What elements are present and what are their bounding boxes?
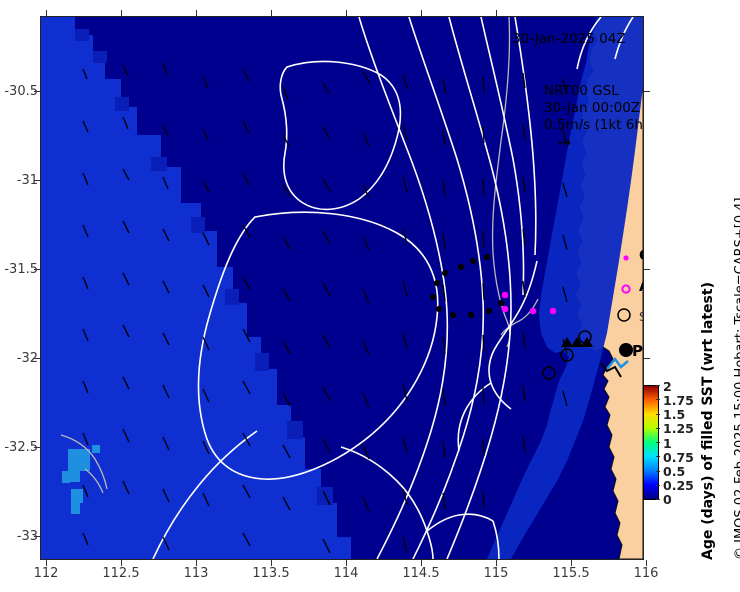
current-source-line2: 30-Jan 00:00Z: [544, 100, 640, 117]
ytickmark-right-0: [644, 91, 650, 92]
xtick-6: 115: [466, 566, 526, 581]
xtickmark-top-0: [46, 10, 47, 16]
city-label-perth: Perth: [632, 342, 644, 360]
legend-marker-glider-icon: [619, 251, 633, 265]
cb-tickmark-8: [656, 385, 660, 386]
xtick-4: 114: [316, 566, 376, 581]
xtick-8: 116: [616, 566, 676, 581]
ytickmark-5: [34, 536, 40, 537]
cb-label-0-75: 0.75: [663, 450, 694, 465]
cb-tickmark-4: [656, 442, 660, 443]
ytickmark-2: [34, 269, 40, 270]
map-plot-area[interactable]: 30-Jan-2025 04Z 200m 1000m NRT00 GSL 30-…: [40, 16, 644, 560]
colorbar-axis-title: Age (days) of filled SST (wrt latest): [700, 282, 716, 560]
xtick-3: 113.5: [241, 566, 301, 581]
ytickmark-right-2: [644, 269, 650, 270]
ytick-2: -31.5: [0, 262, 38, 277]
figure-canvas: 30-Jan-2025 04Z 200m 1000m NRT00 GSL 30-…: [0, 0, 740, 592]
cb-label-2: 2: [663, 379, 672, 394]
cb-label-1-5: 1.5: [663, 407, 685, 422]
xtickmark-1: [121, 560, 122, 566]
legend-marker-ship-icon: [615, 306, 633, 324]
ytickmark-0: [34, 91, 40, 92]
ytick-5: -33: [0, 529, 38, 544]
ytickmark-4: [34, 447, 40, 448]
legend-label-glider: Glider: [639, 248, 644, 264]
xtickmark-top-1: [121, 10, 122, 16]
cb-label-0: 0: [663, 492, 672, 507]
ytick-3: -32: [0, 351, 38, 366]
legend-label-argo: Argo: [639, 279, 644, 295]
cb-label-1-25: 1.25: [663, 421, 694, 436]
current-scale-arrow-icon: →: [557, 133, 571, 153]
cb-tickmark-2: [656, 471, 660, 472]
ytick-4: -32.5: [0, 440, 38, 455]
xtickmark-2: [196, 560, 197, 566]
xtick-1: 112.5: [91, 566, 151, 581]
credit-text: © IMOS 02-Feb-2025 15:00 Hobart; Tscale=…: [733, 197, 740, 560]
xtickmark-8: [646, 560, 647, 566]
cb-tickmark-3: [656, 456, 660, 457]
cb-label-0-25: 0.25: [663, 478, 694, 493]
xtickmark-0: [46, 560, 47, 566]
legend-label-ship: Ship: [639, 309, 644, 324]
xtickmark-top-4: [346, 10, 347, 16]
xtickmark-3: [271, 560, 272, 566]
ytickmark-3: [34, 358, 40, 359]
legend-marker-argo-icon: [619, 282, 633, 296]
xtickmark-top-2: [196, 10, 197, 16]
xtick-2: 113: [166, 566, 226, 581]
xtickmark-6: [496, 560, 497, 566]
xtickmark-top-3: [271, 10, 272, 16]
current-source-line3: 0.5m/s (1kt 6h): [544, 117, 644, 134]
xtickmark-7: [571, 560, 572, 566]
ytick-0: -30.5: [0, 84, 38, 99]
observation-datetime-label: 30-Jan-2025 04Z: [512, 31, 626, 47]
xtickmark-4: [346, 560, 347, 566]
xtick-7: 115.5: [541, 566, 601, 581]
ytickmark-1: [34, 180, 40, 181]
xtickmark-5: [421, 560, 422, 566]
cb-tickmark-7: [656, 399, 660, 400]
cb-tickmark-0: [656, 499, 660, 500]
cb-label-1-75: 1.75: [663, 393, 694, 408]
cb-tickmark-1: [656, 485, 660, 486]
xtick-0: 112: [16, 566, 76, 581]
xtick-5: 114.5: [391, 566, 451, 581]
xtickmark-top-6: [496, 10, 497, 16]
ytickmark-right-3: [644, 358, 650, 359]
cb-tickmark-6: [656, 414, 660, 415]
current-source-line1: NRT00 GSL: [544, 83, 619, 100]
xtickmark-top-5: [421, 10, 422, 16]
cb-tickmark-5: [656, 428, 660, 429]
cb-label-0-5: 0.5: [663, 464, 685, 479]
ytick-1: -31: [0, 173, 38, 188]
cb-label-1: 1: [663, 436, 672, 451]
